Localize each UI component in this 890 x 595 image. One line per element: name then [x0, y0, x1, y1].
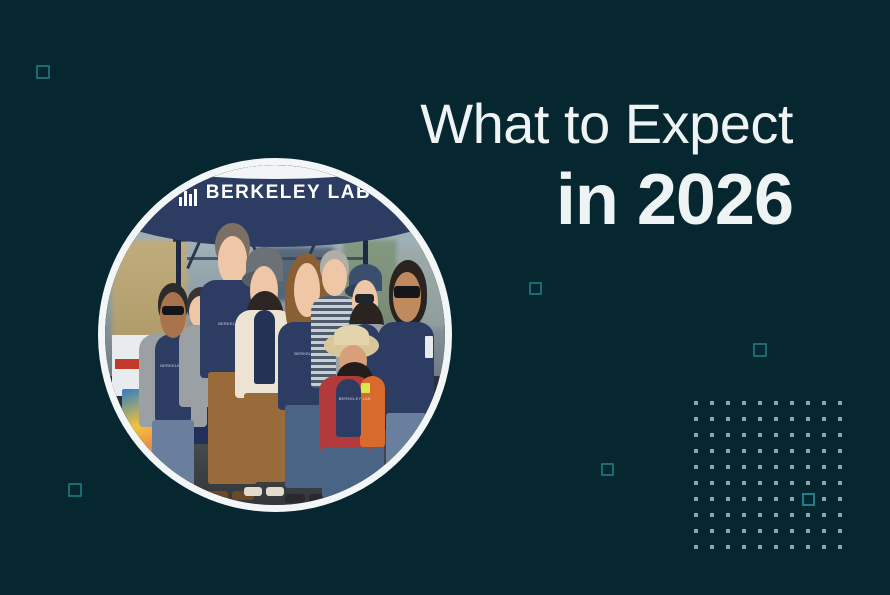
tent-banner-label: BERKELEY LAB: [206, 182, 371, 203]
dot-grid-dot: [710, 497, 714, 501]
deco-square-mid-center: [529, 282, 542, 295]
dot-grid-dot: [838, 497, 842, 501]
dot-grid-dot: [758, 481, 762, 485]
dot-grid-dot: [694, 433, 698, 437]
dot-grid-dot: [726, 497, 730, 501]
dot-grid-dot: [694, 465, 698, 469]
dot-grid-dot: [838, 513, 842, 517]
dot-grid-dot: [694, 497, 698, 501]
dot-grid-dot: [774, 417, 778, 421]
event-photo-image: BERKELEY LAB BERKELEY LAB: [105, 165, 445, 505]
dot-grid-dot: [822, 545, 826, 549]
dot-grid-dot: [774, 433, 778, 437]
dot-grid-dot: [726, 449, 730, 453]
deco-square-top-left: [36, 65, 50, 79]
dot-grid-dot: [806, 513, 810, 517]
dot-grid-dot: [710, 513, 714, 517]
dot-grid-dot: [694, 513, 698, 517]
dot-grid-dot: [758, 417, 762, 421]
dot-grid-dot: [838, 545, 842, 549]
dot-grid-dot: [822, 513, 826, 517]
deco-square-bottom-mid: [601, 463, 614, 476]
dot-grid-dot: [790, 513, 794, 517]
dot-grid-dot: [838, 529, 842, 533]
dot-grid-dot: [774, 449, 778, 453]
dot-grid-dot: [742, 433, 746, 437]
dot-grid-dot: [822, 481, 826, 485]
dot-grid-dot: [790, 529, 794, 533]
headline-line-1: What to Expect: [273, 96, 793, 152]
dot-grid-dot: [822, 465, 826, 469]
poster-canvas: What to Expect in 2026: [0, 0, 890, 595]
dot-grid-dot: [806, 529, 810, 533]
dot-grid-dot: [742, 513, 746, 517]
dot-grid-dot: [806, 417, 810, 421]
deco-square-mid-right: [753, 343, 767, 357]
dot-grid-dot: [838, 481, 842, 485]
dot-grid-dot: [710, 545, 714, 549]
dot-grid-dot: [758, 545, 762, 549]
dot-grid-dot: [726, 465, 730, 469]
dot-grid-dot: [822, 401, 826, 405]
dot-grid-accent-cell: [802, 493, 815, 506]
dot-grid-dot: [742, 497, 746, 501]
dot-grid-dot: [742, 417, 746, 421]
dot-grid-dot: [726, 545, 730, 549]
dot-grid-dot: [758, 401, 762, 405]
dot-grid-dot: [806, 433, 810, 437]
dot-grid-dot: [758, 465, 762, 469]
dot-grid-dot: [774, 545, 778, 549]
dot-grid-dot: [790, 545, 794, 549]
dot-grid-dot: [774, 465, 778, 469]
dot-grid-dot: [758, 529, 762, 533]
dot-grid-dot: [758, 513, 762, 517]
photo-person-9: BERKELEY LAB: [319, 328, 394, 498]
dot-grid-dot: [742, 545, 746, 549]
dot-grid-dot: [726, 417, 730, 421]
dot-grid-dot: [710, 449, 714, 453]
dot-grid-dot: [822, 449, 826, 453]
dot-grid-dot: [838, 465, 842, 469]
dot-grid-dot: [822, 497, 826, 501]
dot-grid-dot: [790, 497, 794, 501]
dot-grid-dot: [790, 417, 794, 421]
dot-grid-dot: [694, 529, 698, 533]
dot-grid-dot: [774, 513, 778, 517]
dot-grid-dot: [822, 529, 826, 533]
dot-grid-dot: [694, 417, 698, 421]
dot-grid-dot: [710, 529, 714, 533]
dot-grid-dot: [726, 433, 730, 437]
dot-grid-dot: [726, 401, 730, 405]
dot-grid-dot: [742, 465, 746, 469]
dot-grid-dot: [710, 465, 714, 469]
dot-grid-dot: [694, 449, 698, 453]
dot-grid-dot: [806, 481, 810, 485]
dot-grid-dot: [774, 529, 778, 533]
dot-grid-dot: [694, 401, 698, 405]
dot-grid-dot: [758, 497, 762, 501]
dot-grid-dot: [726, 481, 730, 485]
dot-grid-dot: [822, 417, 826, 421]
berkeley-lab-mark-icon: [179, 184, 199, 206]
dot-grid-dot: [774, 481, 778, 485]
dot-grid-dot: [742, 481, 746, 485]
dot-grid-dot: [838, 401, 842, 405]
deco-square-bottom-left: [68, 483, 82, 497]
dot-grid-dot: [726, 513, 730, 517]
dot-grid-dot: [806, 449, 810, 453]
dot-grid-dot: [790, 481, 794, 485]
dot-grid-dot: [790, 465, 794, 469]
dot-grid-dot: [710, 417, 714, 421]
dot-grid-dot: [838, 433, 842, 437]
dot-grid-dot: [758, 449, 762, 453]
dot-grid-dot: [806, 465, 810, 469]
dot-grid-dot: [790, 449, 794, 453]
dot-grid-dot: [742, 449, 746, 453]
dot-grid-dot: [774, 401, 778, 405]
dot-grid-dot: [742, 401, 746, 405]
dot-grid-dot: [822, 433, 826, 437]
dot-grid: [694, 401, 846, 553]
dot-grid-dot: [694, 481, 698, 485]
dot-grid-dot: [710, 401, 714, 405]
tent-banner-text: BERKELEY LAB: [105, 182, 445, 206]
dot-grid-dot: [710, 481, 714, 485]
dot-grid-dot: [790, 433, 794, 437]
dot-grid-dot: [758, 433, 762, 437]
dot-grid-dot: [806, 545, 810, 549]
dot-grid-dot: [838, 449, 842, 453]
event-photo: BERKELEY LAB BERKELEY LAB: [98, 158, 452, 512]
dot-grid-dot: [726, 529, 730, 533]
dot-grid-dot: [774, 497, 778, 501]
dot-grid-dot: [838, 417, 842, 421]
dot-grid-dot: [790, 401, 794, 405]
dot-grid-dot: [742, 529, 746, 533]
dot-grid-dot: [694, 545, 698, 549]
dot-grid-dot: [806, 401, 810, 405]
dot-grid-dot: [710, 433, 714, 437]
